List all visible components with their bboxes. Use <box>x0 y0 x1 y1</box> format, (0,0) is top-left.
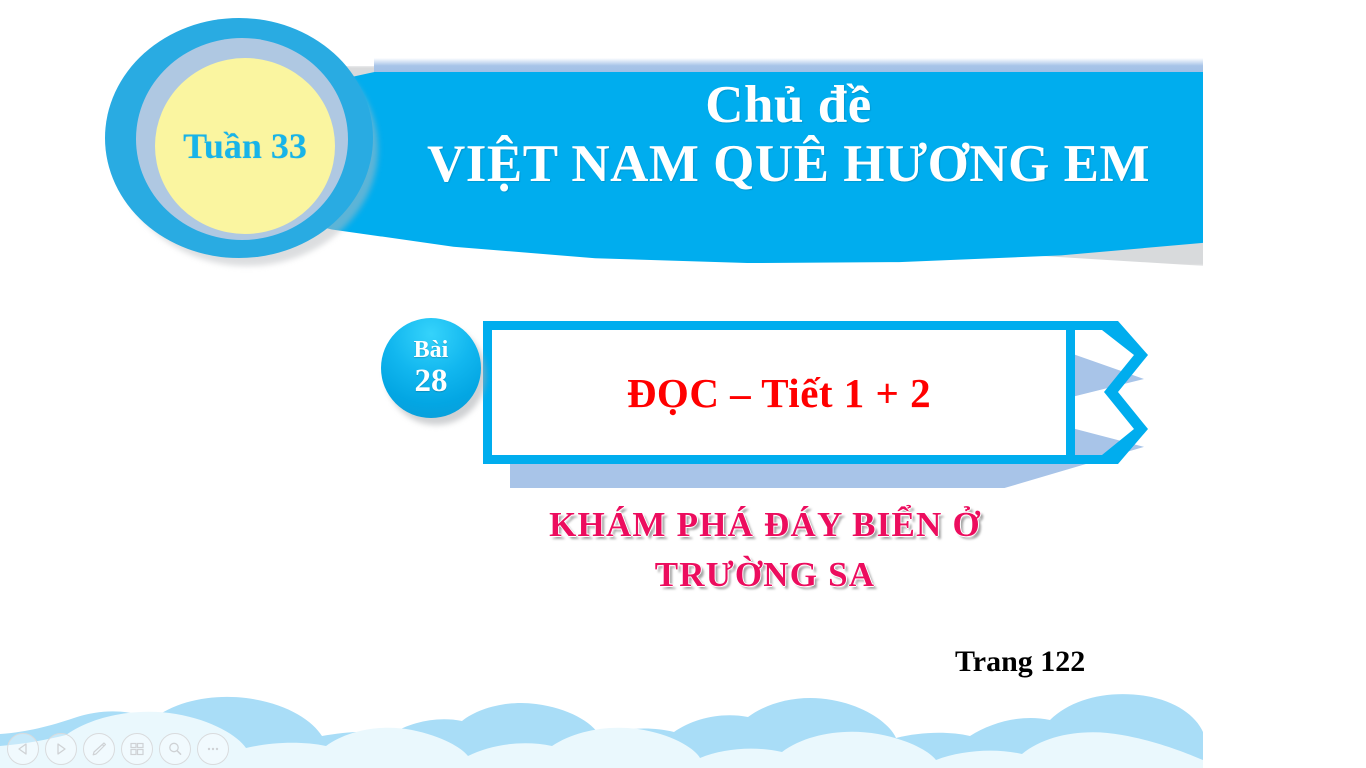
slide-grid-button[interactable] <box>121 733 153 765</box>
pen-annotate-button[interactable] <box>83 733 115 765</box>
banner-theme-title: VIỆT NAM QUÊ HƯƠNG EM <box>374 135 1203 194</box>
ribbon-box: ĐỌC – Tiết 1 + 2 <box>483 321 1075 464</box>
week-badge-label: Tuần 33 <box>183 125 307 167</box>
header-banner-text: Chủ đề VIỆT NAM QUÊ HƯƠNG EM <box>374 76 1203 195</box>
more-dots-icon <box>204 740 222 758</box>
week-badge: Tuần 33 <box>155 58 335 234</box>
magnifier-icon <box>166 740 184 758</box>
next-icon <box>54 742 68 756</box>
grid-icon <box>128 740 146 758</box>
slide-toolbar <box>7 733 229 765</box>
slide-canvas: Chủ đề VIỆT NAM QUÊ HƯƠNG EM Tuần 33 ĐỌC… <box>0 0 1203 768</box>
lesson-badge: Bài 28 <box>381 318 481 418</box>
ribbon-lesson-text: ĐỌC – Tiết 1 + 2 <box>627 369 931 417</box>
page-number-label: Trang 122 <box>955 645 1085 679</box>
banner-subject-label: Chủ đề <box>374 76 1203 135</box>
presentation-slide: Chủ đề VIỆT NAM QUÊ HƯƠNG EM Tuần 33 ĐỌC… <box>0 0 1366 768</box>
previous-icon <box>16 742 30 756</box>
more-options-button[interactable] <box>197 733 229 765</box>
zoom-button[interactable] <box>159 733 191 765</box>
lesson-badge-word: Bài <box>414 338 449 362</box>
pen-icon <box>90 740 108 758</box>
page-title-line-1: KHÁM PHÁ ĐÁY BIỂN Ở <box>353 500 1177 550</box>
banner-top-strip <box>374 58 1203 72</box>
previous-slide-button[interactable] <box>7 733 39 765</box>
lesson-badge-number: 28 <box>415 365 448 398</box>
next-slide-button[interactable] <box>45 733 77 765</box>
page-title: KHÁM PHÁ ĐÁY BIỂN Ở TRƯỜNG SA <box>353 500 1177 599</box>
page-title-line-2: TRƯỜNG SA <box>353 550 1177 600</box>
